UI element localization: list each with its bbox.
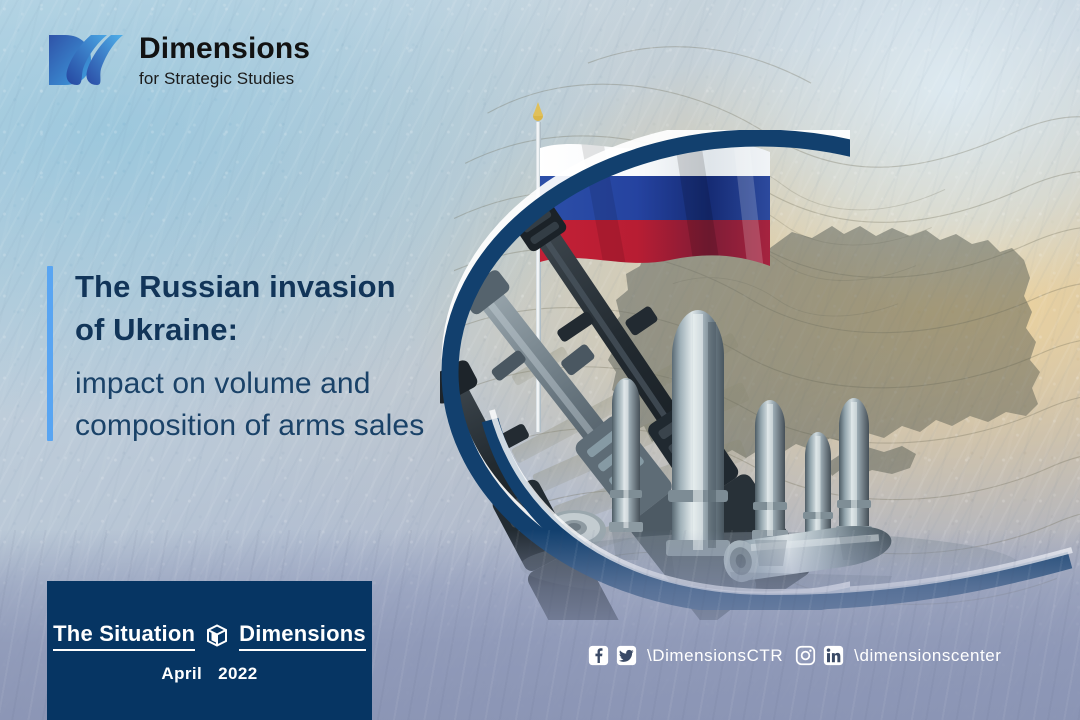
publication-month: April	[161, 664, 202, 683]
social-group-secondary: \dimensionscenter	[795, 645, 1005, 666]
handle-primary: \DimensionsCTR	[647, 646, 783, 666]
page-subtitle: impact on volume and composition of arms…	[75, 363, 424, 448]
flag-finial	[533, 102, 543, 121]
cartridge-small-right-a	[803, 432, 833, 540]
social-footer: \DimensionsCTR \dimensionscenter	[588, 645, 1005, 666]
series-banner-title-row: The Situation Dimensions	[47, 621, 372, 651]
page-title-line-2: of Ukraine:	[75, 312, 238, 347]
page-subtitle-line-2: composition of arms sales	[75, 409, 424, 442]
page-subtitle-line-1: impact on volume and	[75, 367, 371, 400]
instagram-icon[interactable]	[795, 645, 816, 666]
cartridge-small-right-b	[836, 398, 872, 536]
poster-canvas: Dimensions for Strategic Studies The Rus…	[0, 0, 1080, 720]
page-title: The Russian invasion of Ukraine:	[75, 266, 424, 352]
brand-logo[interactable]: Dimensions for Strategic Studies	[47, 31, 310, 89]
headline-accent-bar	[47, 266, 53, 441]
series-brand-label: Dimensions	[239, 621, 366, 651]
cube-outline-icon	[204, 623, 230, 649]
publication-date: April2022	[47, 664, 372, 684]
cartridge-large-center	[666, 310, 730, 556]
brand-name: Dimensions	[139, 34, 310, 64]
series-banner: The Situation Dimensions April2022	[47, 581, 372, 720]
cartridge-small-mid	[752, 400, 788, 540]
dss-monogram-icon	[47, 31, 125, 89]
cartridge-small-left	[609, 378, 643, 532]
brand-tagline: for Strategic Studies	[139, 70, 310, 87]
twitter-icon[interactable]	[616, 645, 637, 666]
linkedin-icon[interactable]	[823, 645, 844, 666]
facebook-icon[interactable]	[588, 645, 609, 666]
publication-year: 2022	[218, 664, 257, 683]
series-label: The Situation	[53, 621, 195, 651]
page-title-line-1: The Russian invasion	[75, 269, 396, 304]
russian-flag	[536, 130, 776, 272]
social-group-primary: \DimensionsCTR	[588, 645, 787, 666]
handle-secondary: \dimensionscenter	[854, 646, 1001, 666]
headline-block: The Russian invasion of Ukraine: impact …	[47, 266, 424, 448]
